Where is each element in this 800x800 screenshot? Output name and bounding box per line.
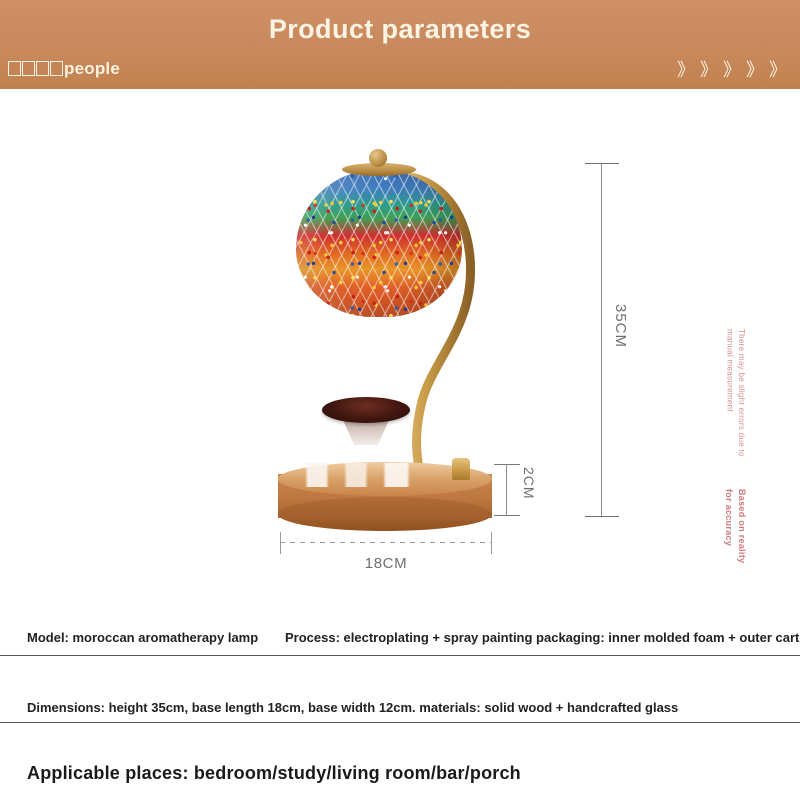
double-chevron-right-icon: 》 <box>746 56 769 82</box>
wax-warmer-dish <box>322 397 410 423</box>
product-photo: 35CM 2CM 18CM There may be slight errors… <box>0 89 800 599</box>
mosaic-glass-dome-shade <box>296 169 462 317</box>
unrendered-glyph-icon <box>8 61 21 76</box>
applicable-places: Applicable places: bedroom/study/living … <box>27 763 521 784</box>
double-chevron-right-icon: 》 <box>700 56 723 82</box>
page-title: Product parameters <box>0 14 800 45</box>
spec-divider <box>0 655 800 656</box>
wax-cubes <box>296 463 446 487</box>
dimension-cap-top <box>494 464 520 465</box>
brass-dimmer-knob <box>452 458 470 480</box>
double-chevron-right-icon: 》 <box>677 56 700 82</box>
dimension-tick-right <box>491 532 492 554</box>
dimension-label-base-height: 2CM <box>521 467 537 500</box>
chevron-decoration: 》》》》》 <box>677 56 792 82</box>
double-chevron-right-icon: 》 <box>769 56 792 82</box>
shade-glass-body <box>296 169 462 317</box>
spec-model: Model: moroccan aromatherapy lamp <box>27 630 258 645</box>
dimension-stroke <box>506 464 507 516</box>
spec-divider <box>0 722 800 723</box>
unrendered-glyph-icon <box>50 61 63 76</box>
dimension-cap-bottom <box>494 515 520 516</box>
brand-label: people <box>8 59 120 79</box>
double-chevron-right-icon: 》 <box>723 56 746 82</box>
dimension-stroke <box>601 163 602 517</box>
spec-process: Process: electroplating + spray painting… <box>285 630 800 645</box>
dimension-dashed-stroke <box>280 542 492 543</box>
accuracy-disclaimer: Based on reality for accuracy <box>722 489 748 579</box>
measurement-disclaimer: There may be slight errors due to manual… <box>724 329 747 479</box>
unrendered-glyph-icon <box>36 61 49 76</box>
brand-label-text: people <box>64 59 120 78</box>
shade-finial-icon <box>369 149 387 167</box>
dimension-line-base-length <box>280 532 492 554</box>
dimension-label-height: 35CM <box>612 304 629 348</box>
dimension-label-base-length: 18CM <box>280 555 492 572</box>
dimension-tick-left <box>280 532 281 554</box>
wooden-base-bottom <box>278 497 492 531</box>
unrendered-glyph-icon <box>22 61 35 76</box>
dimension-cap-top <box>585 163 619 164</box>
dimension-line-base-height <box>494 464 520 516</box>
header-banner: Product parameters people 》》》》》 <box>0 0 800 89</box>
dimension-cap-bottom <box>585 516 619 517</box>
spec-dimensions-materials: Dimensions: height 35cm, base length 18c… <box>27 700 678 715</box>
